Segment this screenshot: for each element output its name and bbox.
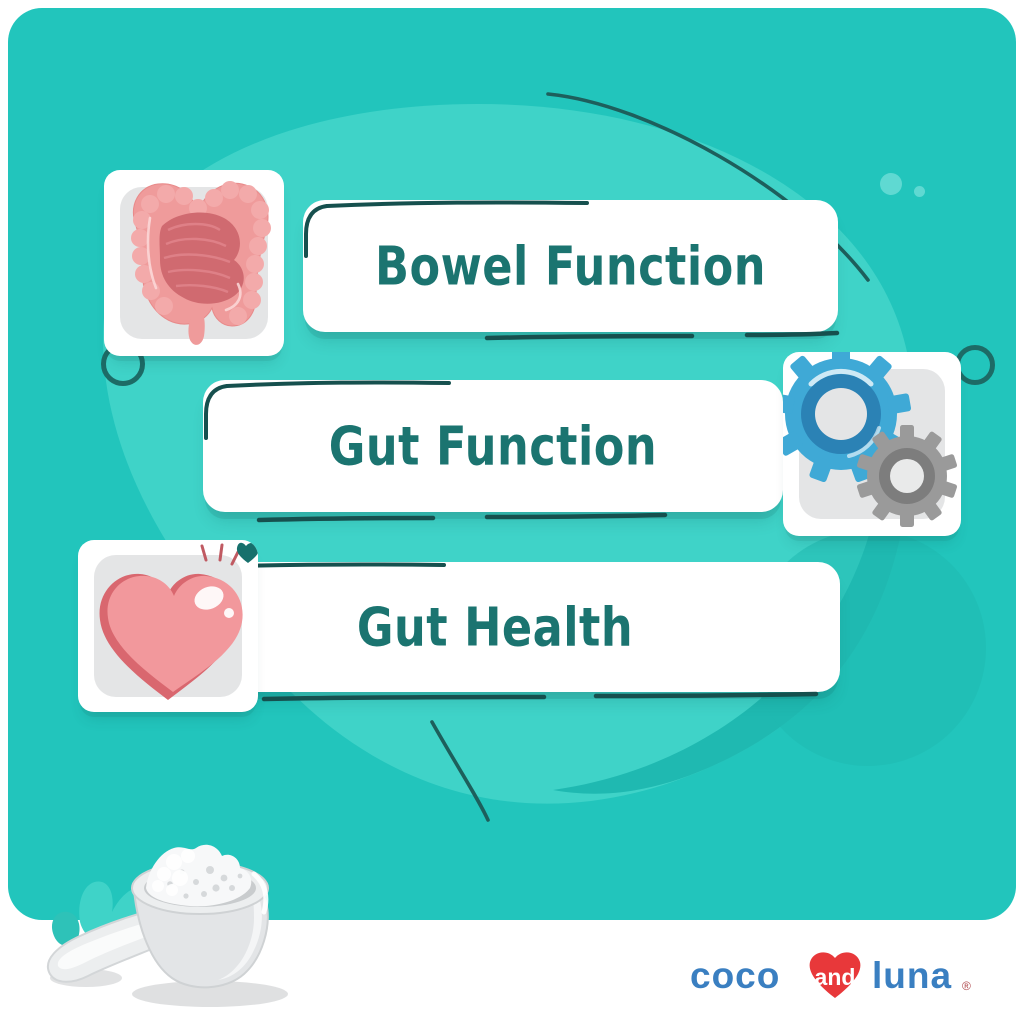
tile-heart[interactable] — [78, 540, 258, 712]
coco-and-luna-logo: coco and luna ® — [690, 952, 980, 1002]
intestine-icon — [104, 170, 284, 356]
row-gut-function[interactable]: Gut Function — [203, 380, 783, 512]
heart-icon — [78, 540, 258, 712]
bubble-dot-small — [914, 186, 925, 197]
logo-registered-mark: ® — [962, 979, 971, 993]
curve-bottom — [432, 722, 488, 820]
poster-canvas: Bowel Function — [0, 0, 1024, 1016]
logo-text-luna: luna — [872, 955, 952, 996]
row-bowel-function[interactable]: Bowel Function — [303, 200, 838, 332]
bubble-dot-large — [880, 173, 902, 195]
scoop-illustration — [14, 826, 324, 1016]
card-label-bowel-function: Bowel Function — [311, 235, 830, 298]
tile-intestine[interactable] — [104, 170, 284, 356]
ring-decor-right — [955, 345, 995, 385]
measuring-scoop-with-powder — [14, 826, 324, 1016]
card-gut-function[interactable]: Gut Function — [203, 380, 783, 512]
tile-gears[interactable] — [783, 352, 961, 536]
logo-text-and: and — [815, 964, 856, 990]
card-label-gut-function: Gut Function — [212, 415, 775, 478]
sparkle-lines — [202, 545, 238, 564]
brand-logo: coco and luna ® — [690, 952, 980, 1002]
card-label-gut-health: Gut Health — [160, 596, 829, 659]
logo-text-coco: coco — [690, 955, 780, 996]
gears-icon — [783, 352, 961, 536]
card-bowel-function[interactable]: Bowel Function — [303, 200, 838, 332]
